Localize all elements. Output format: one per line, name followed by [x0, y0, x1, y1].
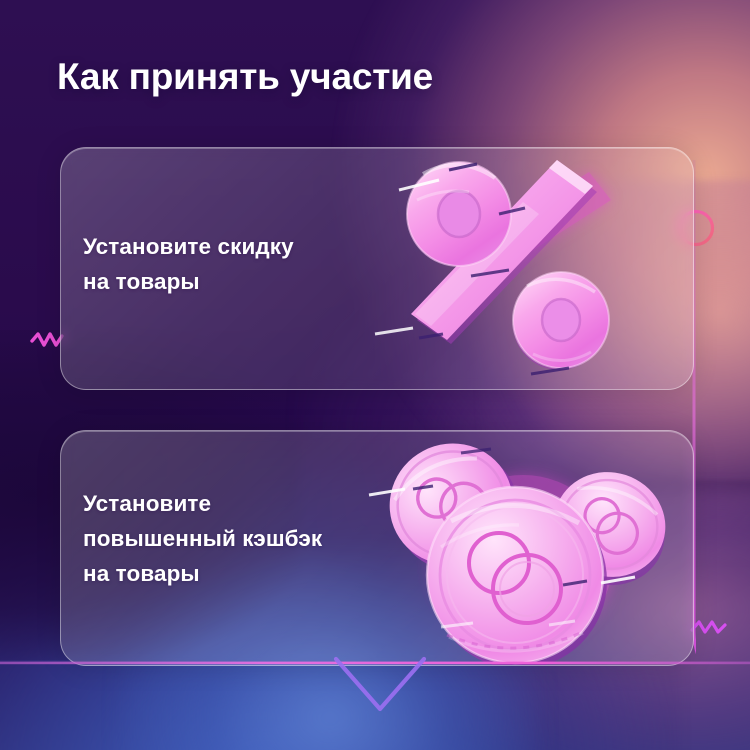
- card-cashback[interactable]: Установите повышенный кэшбэк на товары: [60, 430, 694, 666]
- card-discount[interactable]: Установите скидку на товары: [60, 147, 694, 390]
- promo-banner: Установите скидку на товары: [0, 0, 750, 750]
- card-discount-text: Установите скидку на товары: [83, 229, 294, 299]
- percent-symbol-3d-icon: [373, 148, 673, 389]
- page-title: Как принять участие: [57, 56, 433, 98]
- coins-3d-icon: [363, 431, 693, 665]
- card-cashback-text: Установите повышенный кэшбэк на товары: [83, 486, 322, 591]
